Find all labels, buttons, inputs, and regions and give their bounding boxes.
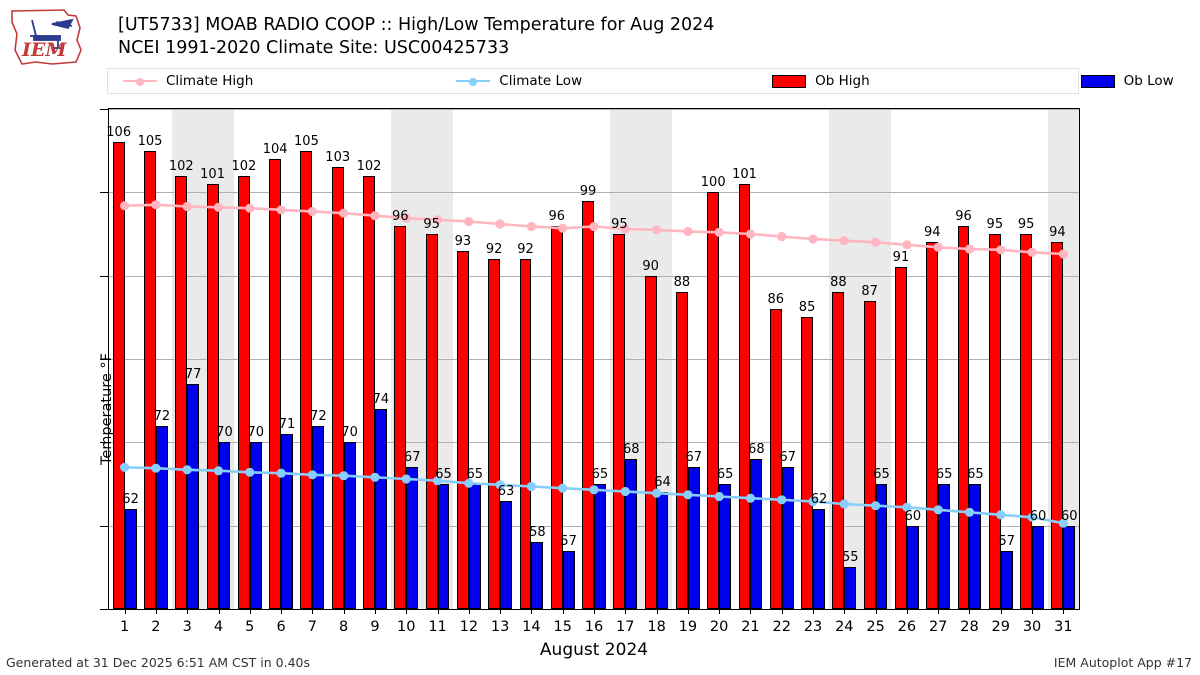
marker-climate-high [777, 232, 786, 241]
bar-value-label-high: 96 [392, 209, 409, 224]
page-title: [UT5733] MOAB RADIO COOP :: High/Low Tem… [118, 14, 714, 60]
marker-climate-high [527, 222, 536, 231]
x-axis-tick [876, 609, 877, 614]
x-axis-tick-label: 2 [151, 619, 160, 635]
footer-generated-text: Generated at 31 Dec 2025 6:51 AM CST in … [6, 655, 310, 670]
bar-value-label-high: 106 [106, 125, 131, 140]
y-axis-tick [100, 192, 109, 193]
bar-value-label-high: 101 [732, 167, 757, 182]
bar-value-label-low: 70 [247, 425, 264, 440]
footer-app-text: IEM Autoplot App #17 [1054, 655, 1192, 670]
x-axis-tick [1032, 609, 1033, 614]
marker-climate-high [934, 243, 943, 252]
x-axis-tick [438, 609, 439, 614]
bar-value-label-low: 68 [623, 442, 640, 457]
marker-climate-high [245, 204, 254, 213]
marker-climate-high [840, 236, 849, 245]
legend-line-marker-icon [123, 75, 157, 87]
bar-value-label-low: 65 [592, 467, 609, 482]
marker-climate-low [746, 494, 755, 503]
bar-value-label-high: 105 [138, 134, 163, 149]
x-axis-tick [782, 609, 783, 614]
chart-legend: Climate High Climate Low Ob High Ob Low [107, 68, 1079, 94]
bar-value-label-low: 68 [748, 442, 765, 457]
x-axis-tick-label: 16 [585, 619, 603, 635]
marker-climate-low [777, 495, 786, 504]
bar-value-label-low: 65 [873, 467, 890, 482]
x-axis-tick-label: 20 [710, 619, 728, 635]
bar-value-label-high: 105 [294, 134, 319, 149]
marker-climate-low [840, 499, 849, 508]
marker-climate-low [715, 492, 724, 501]
x-axis-tick-label: 17 [616, 619, 634, 635]
x-axis-tick [281, 609, 282, 614]
x-axis-tick [594, 609, 595, 614]
x-axis-tick [125, 609, 126, 614]
bar-value-label-high: 96 [548, 209, 565, 224]
x-axis-tick [531, 609, 532, 614]
chart-plot-area: 1066210572102771017010270104711057210370… [108, 108, 1080, 610]
x-axis-tick-label: 19 [679, 619, 697, 635]
bar-value-label-high: 102 [169, 159, 194, 174]
bar-value-label-high: 104 [263, 142, 288, 157]
x-axis-tick-label: 30 [1023, 619, 1041, 635]
x-axis-tick-label: 7 [308, 619, 317, 635]
bar-value-label-high: 103 [325, 150, 350, 165]
bar-value-label-low: 70 [216, 425, 233, 440]
marker-climate-high [308, 207, 317, 216]
marker-climate-high [496, 219, 505, 228]
x-axis-tick-label: 18 [647, 619, 665, 635]
x-axis-tick [469, 609, 470, 614]
marker-climate-low [871, 501, 880, 510]
bar-value-label-low: 60 [905, 509, 922, 524]
bar-value-label-high: 95 [423, 217, 440, 232]
x-axis-tick [344, 609, 345, 614]
x-axis-tick-label: 12 [460, 619, 478, 635]
bar-value-label-low: 77 [185, 367, 202, 382]
marker-climate-high [1059, 249, 1068, 258]
x-axis-tick-label: 28 [960, 619, 978, 635]
marker-climate-high [120, 201, 129, 210]
x-axis-tick [844, 609, 845, 614]
x-axis-tick [969, 609, 970, 614]
x-axis-tick-label: 11 [428, 619, 446, 635]
title-line-2: NCEI 1991-2020 Climate Site: USC00425733 [118, 37, 714, 60]
marker-climate-high [464, 217, 473, 226]
x-axis-tick [406, 609, 407, 614]
x-axis-tick [312, 609, 313, 614]
legend-label-climate-low: Climate Low [499, 73, 582, 89]
bar-value-label-low: 55 [842, 550, 859, 565]
title-line-1: [UT5733] MOAB RADIO COOP :: High/Low Tem… [118, 14, 714, 37]
legend-item-ob-high[interactable]: Ob High [772, 73, 870, 89]
x-axis-tick-label: 15 [553, 619, 571, 635]
bar-value-label-high: 90 [642, 259, 659, 274]
x-axis-tick [1001, 609, 1002, 614]
iem-logo: IEM [6, 6, 88, 68]
x-axis-tick [1063, 609, 1064, 614]
marker-climate-high [871, 238, 880, 247]
marker-climate-low [120, 463, 129, 472]
x-axis-tick-label: 5 [245, 619, 254, 635]
x-axis-tick-label: 25 [866, 619, 884, 635]
x-axis-tick [500, 609, 501, 614]
legend-item-climate-high[interactable]: Climate High [123, 73, 253, 89]
x-axis-tick-label: 6 [276, 619, 285, 635]
bar-value-label-high: 91 [893, 250, 910, 265]
marker-climate-low [934, 505, 943, 514]
legend-line-marker-icon [456, 75, 490, 87]
bar-value-label-low: 67 [404, 450, 421, 465]
marker-climate-low [996, 510, 1005, 519]
y-axis-tick [100, 276, 109, 277]
bar-value-label-high: 86 [768, 292, 785, 307]
marker-climate-low [245, 468, 254, 477]
legend-label-ob-high: Ob High [815, 73, 870, 89]
bar-value-label-low: 74 [373, 392, 390, 407]
marker-climate-low [683, 490, 692, 499]
marker-climate-high [902, 240, 911, 249]
marker-climate-high [1028, 248, 1037, 257]
x-axis-tick-label: 10 [397, 619, 415, 635]
x-axis-tick-label: 22 [773, 619, 791, 635]
x-axis-tick-label: 4 [214, 619, 223, 635]
marker-climate-high [370, 211, 379, 220]
bar-value-label-low: 63 [498, 484, 515, 499]
marker-climate-low [183, 465, 192, 474]
bar-value-label-high: 95 [1018, 217, 1035, 232]
bar-value-label-low: 57 [998, 534, 1015, 549]
x-axis-tick-label: 31 [1054, 619, 1072, 635]
marker-climate-high [965, 244, 974, 253]
x-axis-tick-label: 14 [522, 619, 540, 635]
bar-value-label-low: 72 [154, 409, 171, 424]
marker-climate-low [402, 474, 411, 483]
bar-value-label-low: 62 [122, 492, 139, 507]
bar-value-label-high: 88 [830, 275, 847, 290]
bar-value-label-low: 62 [811, 492, 828, 507]
x-axis-tick [938, 609, 939, 614]
x-axis-tick-label: 3 [183, 619, 192, 635]
bar-value-label-low: 65 [435, 467, 452, 482]
bar-value-label-high: 88 [674, 275, 691, 290]
x-axis-tick-label: 21 [741, 619, 759, 635]
legend-swatch-icon [1081, 75, 1115, 88]
x-axis-tick-label: 29 [992, 619, 1010, 635]
marker-climate-high [558, 224, 567, 233]
bar-value-label-high: 102 [357, 159, 382, 174]
x-axis-tick [187, 609, 188, 614]
x-axis-tick [219, 609, 220, 614]
y-axis-tick [100, 109, 109, 110]
x-axis-tick [813, 609, 814, 614]
x-axis-tick [657, 609, 658, 614]
x-axis-tick-label: 26 [898, 619, 916, 635]
y-axis-title: Temperature °F [99, 353, 115, 465]
bar-value-label-high: 99 [580, 184, 597, 199]
bar-value-label-low: 64 [654, 475, 671, 490]
legend-item-ob-low[interactable]: Ob Low [1081, 73, 1174, 89]
bar-value-label-high: 94 [924, 225, 941, 240]
marker-climate-high [214, 203, 223, 212]
marker-climate-high [589, 222, 598, 231]
x-axis-tick [375, 609, 376, 614]
x-axis-tick [625, 609, 626, 614]
bar-value-label-high: 96 [955, 209, 972, 224]
logo-text: IEM [21, 39, 67, 61]
marker-climate-high [339, 209, 348, 218]
x-axis-tick [907, 609, 908, 614]
marker-climate-low [965, 508, 974, 517]
x-axis-tick-label: 27 [929, 619, 947, 635]
bar-value-label-low: 60 [1061, 509, 1078, 524]
bar-value-label-high: 87 [861, 284, 878, 299]
x-axis-tick [688, 609, 689, 614]
legend-item-climate-low[interactable]: Climate Low [456, 73, 582, 89]
bar-value-label-low: 72 [310, 409, 327, 424]
bar-value-label-low: 57 [560, 534, 577, 549]
marker-climate-low [621, 487, 630, 496]
marker-climate-low [277, 469, 286, 478]
y-axis-tick [100, 526, 109, 527]
x-axis-tick [750, 609, 751, 614]
marker-climate-low [527, 482, 536, 491]
marker-climate-high [996, 245, 1005, 254]
x-axis-tick [563, 609, 564, 614]
y-axis-tick [100, 609, 109, 610]
bar-value-label-high: 85 [799, 300, 816, 315]
x-axis-tick [719, 609, 720, 614]
bar-value-label-low: 70 [341, 425, 358, 440]
bar-value-label-high: 95 [611, 217, 628, 232]
legend-label-ob-low: Ob Low [1124, 73, 1174, 89]
marker-climate-high [652, 225, 661, 234]
bar-value-label-low: 67 [779, 450, 796, 465]
bar-value-label-high: 93 [455, 234, 472, 249]
bar-value-label-low: 67 [686, 450, 703, 465]
marker-climate-low [214, 466, 223, 475]
marker-climate-high [183, 202, 192, 211]
bar-value-label-low: 71 [279, 417, 296, 432]
bar-value-label-high: 101 [200, 167, 225, 182]
bar-value-label-high: 92 [517, 242, 534, 257]
bar-value-label-high: 95 [987, 217, 1004, 232]
marker-climate-low [558, 484, 567, 493]
x-axis-title: August 2024 [540, 640, 648, 660]
x-axis-tick [250, 609, 251, 614]
marker-climate-high [715, 228, 724, 237]
x-axis-tick-label: 23 [804, 619, 822, 635]
marker-climate-high [277, 205, 286, 214]
bar-value-label-high: 94 [1049, 225, 1066, 240]
marker-climate-low [370, 473, 379, 482]
marker-climate-low [589, 485, 598, 494]
marker-climate-high [746, 229, 755, 238]
bar-value-label-high: 102 [231, 159, 256, 174]
marker-climate-high [808, 234, 817, 243]
x-axis-tick-label: 13 [491, 619, 509, 635]
legend-label-climate-high: Climate High [166, 73, 253, 89]
marker-climate-high [151, 200, 160, 209]
x-axis-tick-label: 8 [339, 619, 348, 635]
marker-climate-high [683, 227, 692, 236]
bar-value-label-low: 65 [717, 467, 734, 482]
bar-value-label-low: 58 [529, 525, 546, 540]
legend-swatch-icon [772, 75, 806, 88]
marker-climate-low [308, 470, 317, 479]
x-axis-tick-label: 9 [370, 619, 379, 635]
marker-climate-low [339, 471, 348, 480]
marker-climate-low [151, 464, 160, 473]
x-axis-tick-label: 24 [835, 619, 853, 635]
bar-value-label-high: 100 [701, 175, 726, 190]
bar-value-label-high: 92 [486, 242, 503, 257]
bar-value-label-low: 65 [467, 467, 484, 482]
bar-value-label-low: 60 [1030, 509, 1047, 524]
x-axis-tick [156, 609, 157, 614]
bar-value-label-low: 65 [967, 467, 984, 482]
x-axis-tick-label: 1 [120, 619, 129, 635]
bar-value-label-low: 65 [936, 467, 953, 482]
